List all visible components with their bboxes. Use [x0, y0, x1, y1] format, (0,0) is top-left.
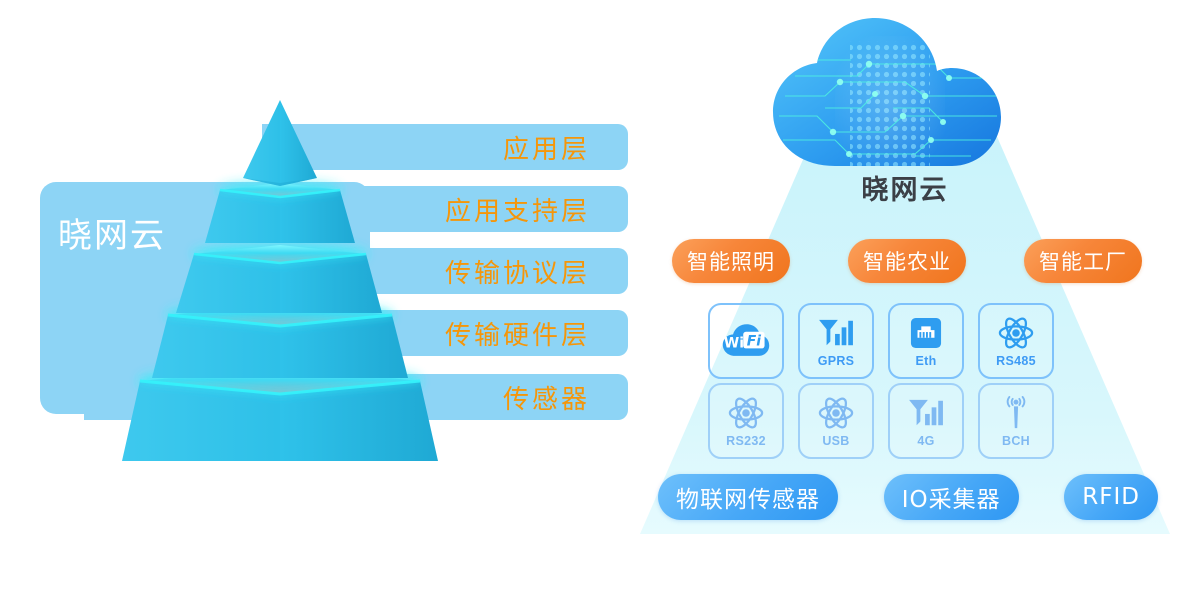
ethernet-port-icon	[910, 314, 942, 352]
application-pill-smart-agriculture[interactable]: 智能农业	[848, 239, 966, 283]
tech-cell-wifi[interactable]: Wi Fi	[708, 303, 784, 379]
wifi-icon: Wi Fi	[720, 318, 772, 364]
application-pill-group: 智能照明 智能农业 智能工厂	[672, 239, 1142, 283]
tech-cell-bch[interactable]: BCH	[978, 383, 1054, 459]
tech-cell-rs485[interactable]: RS485	[978, 303, 1054, 379]
tech-label: USB	[822, 434, 849, 448]
tech-label: GPRS	[818, 354, 855, 368]
signal-bars-icon	[817, 314, 855, 352]
tech-label: RS485	[996, 354, 1036, 368]
cloud-circuit-icon	[765, 16, 1015, 176]
tech-label: 4G	[917, 434, 934, 448]
cloud-ecosystem-section: 晓网云 智能照明 智能农业 智能工厂 Wi Fi	[610, 0, 1200, 600]
tech-cell-rs232[interactable]: RS232	[708, 383, 784, 459]
device-pill-iot-sensor[interactable]: 物联网传感器	[658, 474, 838, 520]
pyramid-tier-3	[176, 245, 382, 313]
atom-icon	[818, 394, 854, 432]
technology-grid: Wi Fi GPRS	[708, 303, 1098, 459]
pyramid-tier-2	[205, 183, 355, 243]
svg-text:Fi: Fi	[747, 334, 761, 350]
pyramid-tier-4	[152, 304, 408, 378]
diagram-canvas: 应用层 应用支持层 传输协议层 传输硬件层 传感器 晓网云	[0, 0, 1200, 600]
device-pill-rfid[interactable]: RFID	[1064, 474, 1158, 520]
device-pill-io-collector[interactable]: IO采集器	[884, 474, 1019, 520]
cloud-title: 晓网云	[610, 168, 1200, 207]
tech-label: Eth	[915, 354, 936, 368]
application-pill-smart-factory[interactable]: 智能工厂	[1024, 239, 1142, 283]
svg-text:Wi: Wi	[724, 336, 744, 352]
tech-label: BCH	[1002, 434, 1030, 448]
layered-pyramid-graphic	[0, 0, 660, 600]
pyramid-tier-5	[122, 368, 438, 461]
tech-cell-usb[interactable]: USB	[798, 383, 874, 459]
tech-label: RS232	[726, 434, 766, 448]
tech-cell-eth[interactable]: Eth	[888, 303, 964, 379]
tech-cell-4g[interactable]: 4G	[888, 383, 964, 459]
tech-cell-gprs[interactable]: GPRS	[798, 303, 874, 379]
atom-icon	[728, 394, 764, 432]
cloud-icon-wrap	[765, 16, 1015, 176]
device-pill-group: 物联网传感器 IO采集器 RFID	[658, 474, 1158, 520]
atom-icon	[998, 314, 1034, 352]
antenna-tower-icon	[999, 394, 1033, 432]
application-pill-smart-lighting[interactable]: 智能照明	[672, 239, 790, 283]
pyramid-section: 应用层 应用支持层 传输协议层 传输硬件层 传感器 晓网云	[0, 0, 660, 600]
pyramid-tier-1-apex	[243, 100, 317, 186]
signal-bars-icon	[907, 394, 945, 432]
